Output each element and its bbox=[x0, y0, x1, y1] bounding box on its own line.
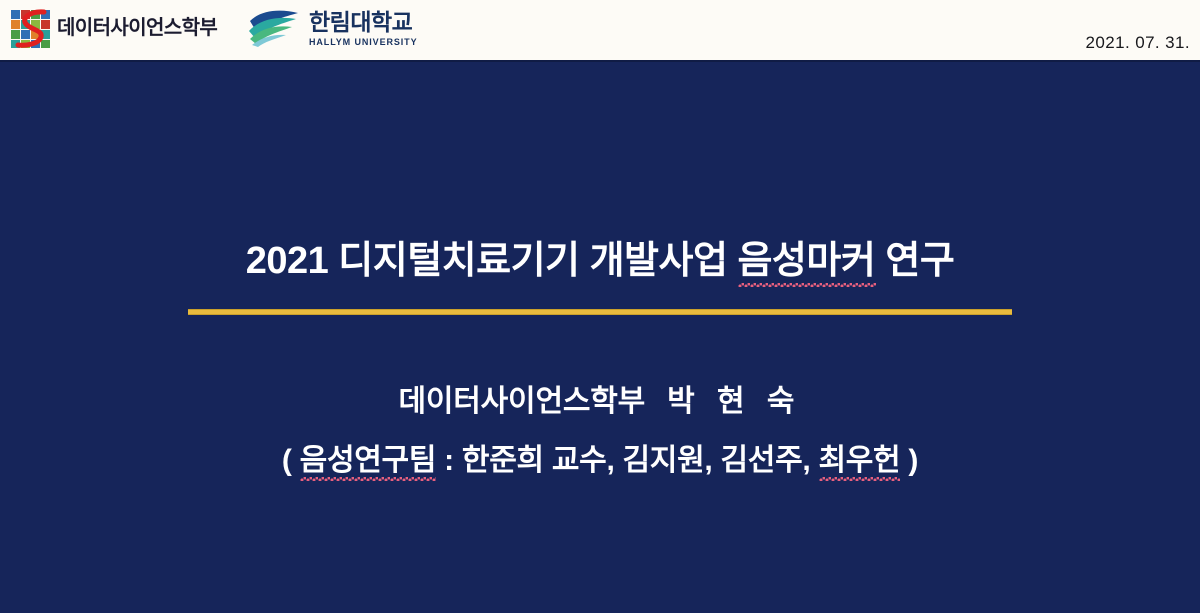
slide-body: 2021 디지털치료기기 개발사업 음성마커 연구 데이터사이언스학부박 현 숙… bbox=[0, 62, 1200, 613]
team-container: ( 음성연구팀 : 한준희 교수, 김지원, 김선주, 최우헌 ) bbox=[0, 444, 1200, 479]
university-name-ko: 한림대학교 bbox=[309, 11, 417, 34]
hallym-wave-logo-icon bbox=[248, 7, 306, 49]
author-affiliation: 데이터사이언스학부 bbox=[398, 385, 645, 418]
slide-title: 2021 디지털치료기기 개발사업 음성마커 연구 bbox=[246, 240, 955, 284]
title-container: 2021 디지털치료기기 개발사업 음성마커 연구 bbox=[0, 240, 1200, 284]
title-accent-rule bbox=[188, 309, 1012, 315]
university-name-en: HALLYM UNIVERSITY bbox=[309, 38, 417, 47]
slide-header-bar: 데이터사이언스학부 한림대학교 HALLYM UNIVERSITY 2021. … bbox=[0, 0, 1200, 62]
university-logo: 한림대학교 HALLYM UNIVERSITY bbox=[248, 5, 417, 55]
data-science-mosaic-s-logo-icon bbox=[10, 8, 55, 50]
author-line: 데이터사이언스학부박 현 숙 bbox=[0, 376, 1200, 420]
department-logo: 데이터사이언스학부 bbox=[10, 6, 217, 52]
department-logo-label: 데이터사이언스학부 bbox=[57, 18, 217, 40]
slide-date: 2021. 07. 31. bbox=[1086, 33, 1190, 53]
university-name-block: 한림대학교 HALLYM UNIVERSITY bbox=[309, 5, 417, 47]
team-line: ( 음성연구팀 : 한준희 교수, 김지원, 김선주, 최우헌 ) bbox=[282, 444, 918, 479]
presentation-slide: 데이터사이언스학부 한림대학교 HALLYM UNIVERSITY 2021. … bbox=[0, 0, 1200, 613]
author-name: 박 현 숙 bbox=[667, 385, 801, 418]
